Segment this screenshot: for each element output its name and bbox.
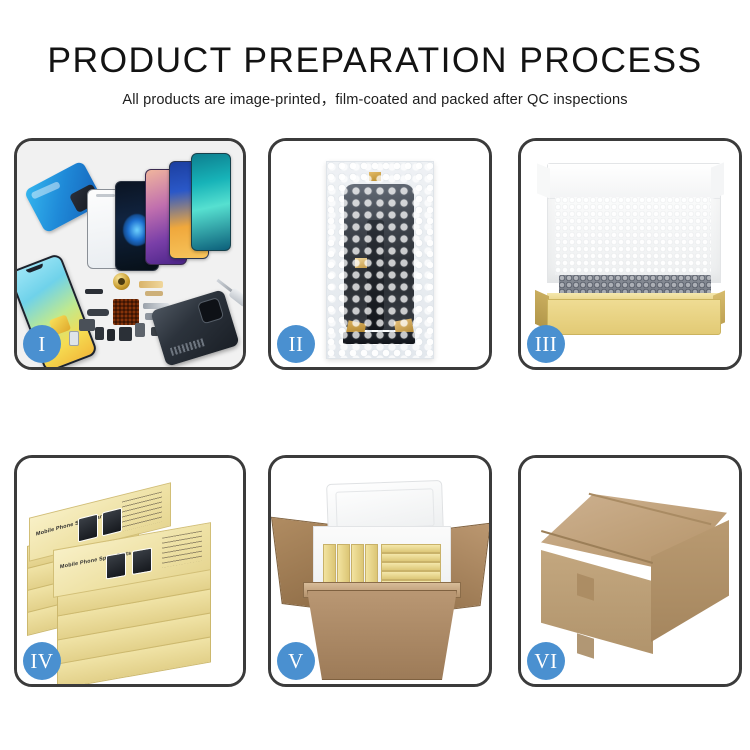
carton-body-icon xyxy=(307,590,457,680)
panel-stacked-retail-boxes[interactable]: Mobile Phone Spare Parts Mobile Phone Sp… xyxy=(14,455,246,687)
yellow-box-flat-4 xyxy=(381,571,441,580)
foam-sheet-icon xyxy=(555,197,711,275)
box-label-phone-4-icon xyxy=(132,547,152,575)
component-5-icon xyxy=(119,327,132,341)
step-badge: V xyxy=(277,642,315,680)
tape-tab-middle-icon xyxy=(355,258,367,268)
assembly-base-icon xyxy=(343,332,415,344)
component-2-icon xyxy=(79,319,95,331)
box-label-spec-lines-back xyxy=(122,492,162,532)
tape-tab-top-icon xyxy=(369,172,381,181)
bubble-wrap-bag-icon xyxy=(326,161,434,359)
carton-front-face-icon xyxy=(541,550,653,654)
panel-carton-with-foam-box[interactable]: V xyxy=(268,455,492,687)
process-panel-grid: I II III xyxy=(0,0,750,750)
panel-products-and-parts[interactable]: I xyxy=(14,138,246,370)
speaker-module-part-icon xyxy=(113,273,130,290)
box-label-phone-2-icon xyxy=(102,508,122,537)
copper-mesh-part-icon xyxy=(113,299,139,325)
box-stack: Mobile Phone Spare Parts Mobile Phone Sp… xyxy=(21,474,243,674)
step-badge: III xyxy=(527,325,565,363)
flex-cable-strip-icon xyxy=(367,220,384,330)
sim-tray-part-icon xyxy=(69,331,79,346)
step-badge: IV xyxy=(23,642,61,680)
step-badge: I xyxy=(23,325,61,363)
yellow-box-flat-2 xyxy=(381,553,441,562)
panel-sealed-shipping-carton[interactable]: VI xyxy=(518,455,742,687)
panel-inner-box-with-foam[interactable]: III xyxy=(518,138,742,370)
component-4-icon xyxy=(107,329,115,341)
carton-tape-lower-icon xyxy=(577,633,594,659)
box-label-spec-lines-front xyxy=(162,531,202,568)
phone-display-4-icon xyxy=(191,153,231,251)
component-8-icon xyxy=(135,323,145,337)
component-3-icon xyxy=(95,327,104,340)
phone-back-housing-icon xyxy=(150,289,240,367)
flex-cable-2-part-icon xyxy=(145,291,163,296)
component-1-icon xyxy=(87,309,109,316)
step-badge: VI xyxy=(527,642,565,680)
step-badge: II xyxy=(277,325,315,363)
yellow-box-flat-3 xyxy=(381,562,441,571)
box-label-phone-1-icon xyxy=(78,513,98,542)
foam-liner-right-icon xyxy=(711,162,724,199)
box-label-phone-3-icon xyxy=(106,552,126,580)
panel-bubble-wrapped-part[interactable]: II xyxy=(268,138,492,370)
yellow-box-front-icon xyxy=(547,299,721,335)
flex-cable-part-icon xyxy=(139,281,163,288)
battery-connector-part-icon xyxy=(85,289,103,294)
yellow-box-flat-1 xyxy=(381,544,441,553)
